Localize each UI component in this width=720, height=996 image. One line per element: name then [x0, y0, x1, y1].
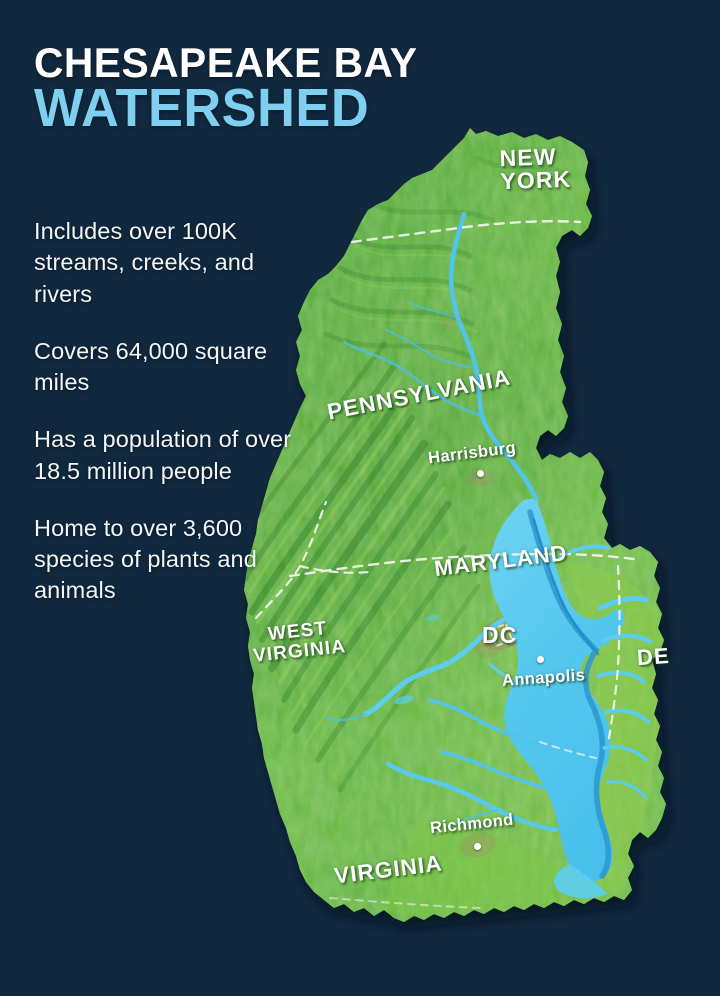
city-marker-harrisburg: [477, 470, 484, 477]
title-line-1: CHESAPEAKE BAY: [34, 42, 417, 83]
fact-area: Covers 64,000 square miles: [34, 336, 296, 399]
page-title: CHESAPEAKE BAY WATERSHED: [34, 42, 429, 134]
fact-population: Has a population of over 18.5 million pe…: [34, 424, 296, 487]
fact-list: Includes over 100K streams, creeks, and …: [34, 216, 296, 633]
city-marker-richmond: [474, 843, 481, 850]
fact-streams: Includes over 100K streams, creeks, and …: [34, 216, 296, 310]
fact-species: Home to over 3,600 species of plants and…: [34, 513, 296, 607]
city-marker-annapolis: [537, 656, 544, 663]
terrain-group: [230, 110, 690, 940]
chesapeake-bay-watershed-infographic: CHESAPEAKE BAY WATERSHED Includes over 1…: [0, 0, 720, 996]
title-line-2: WATERSHED: [34, 83, 417, 134]
